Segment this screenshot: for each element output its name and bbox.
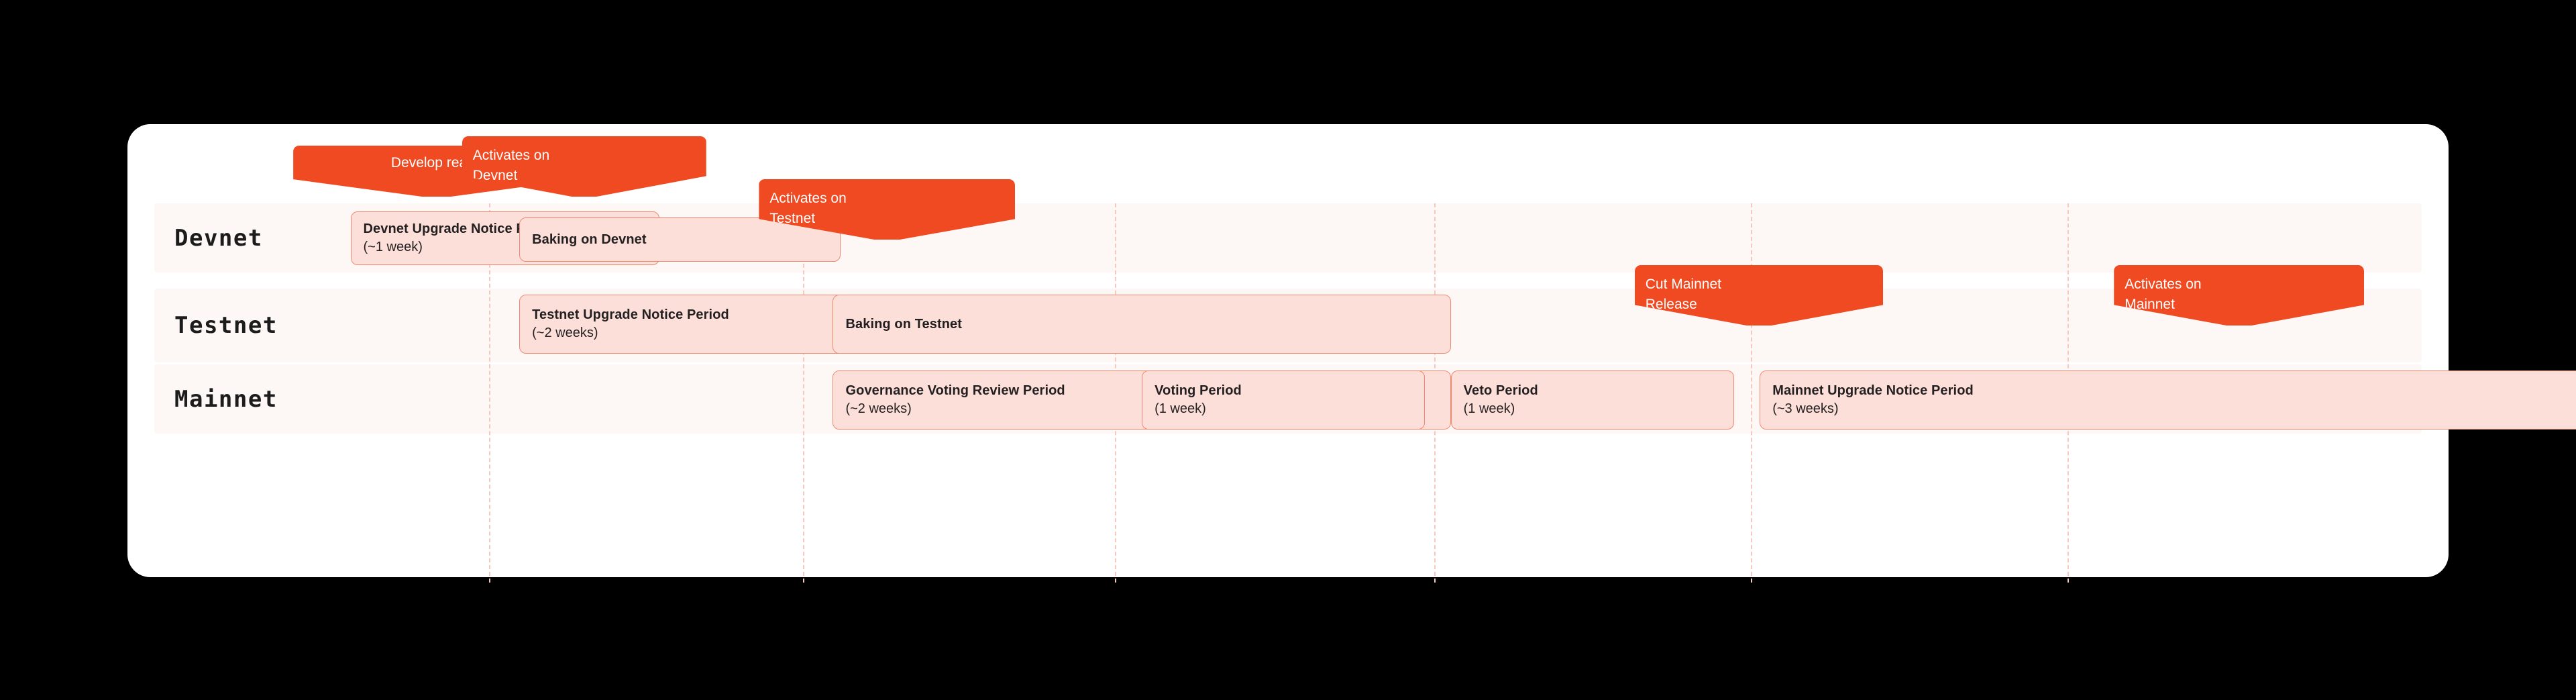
- period-duration: (~3 weeks): [1772, 400, 2576, 418]
- period-duration: (1 week): [1155, 400, 1412, 418]
- timeline-card: Devnet Testnet Mainnet Devnet Upgrade No…: [127, 124, 2449, 577]
- period-mainnet-upgrade-notice[interactable]: Mainnet Upgrade Notice Period (~3 weeks): [1760, 370, 2576, 430]
- period-title: Mainnet Upgrade Notice Period: [1772, 382, 2576, 400]
- badge-line-1: Activates on: [769, 189, 846, 209]
- period-voting[interactable]: Voting Period (1 week): [1142, 370, 1425, 430]
- badge-line-1: Cut Mainnet: [1646, 274, 1721, 295]
- row-label-mainnet: Mainnet: [174, 386, 278, 413]
- badge-line-1: Activates on: [473, 146, 549, 166]
- period-duration: (1 week): [1464, 400, 1721, 418]
- period-veto[interactable]: Veto Period (1 week): [1451, 370, 1734, 430]
- period-baking-on-testnet[interactable]: Baking on Testnet: [833, 295, 1450, 354]
- badge-line-1: Activates on: [2125, 274, 2201, 295]
- row-label-testnet: Testnet: [174, 312, 278, 339]
- period-title: Baking on Testnet: [845, 315, 1438, 334]
- screenshot-root: Devnet Testnet Mainnet Devnet Upgrade No…: [0, 0, 2576, 700]
- period-title: Baking on Devnet: [532, 231, 828, 249]
- gridline-5: [1751, 203, 1752, 583]
- period-title: Veto Period: [1464, 382, 1721, 400]
- row-label-devnet: Devnet: [174, 225, 263, 252]
- period-title: Voting Period: [1155, 382, 1412, 400]
